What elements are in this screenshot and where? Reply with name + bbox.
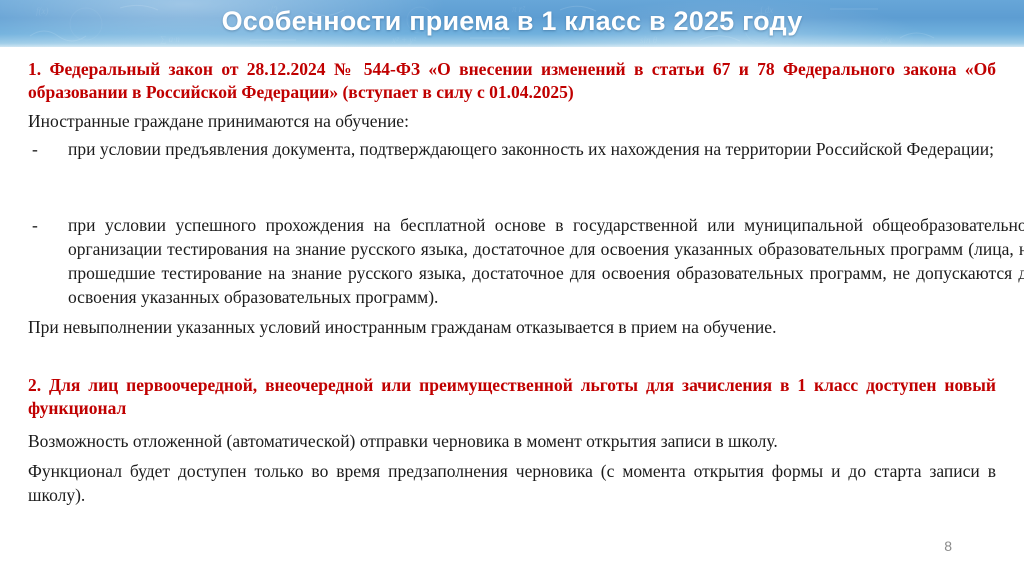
dash-bullet-marker: - <box>32 213 38 237</box>
page-title: Особенности приема в 1 класс в 2025 году <box>0 0 1024 43</box>
final-condition-paragraph: При невыполнении указанных условий иност… <box>28 315 996 339</box>
slide-header-banner: f(x) ∑ a·n √2 x² + y² π r² sin θ ∫ dx e^… <box>0 0 1024 47</box>
list-item-text: при условии успешного прохождения на бес… <box>68 215 1024 307</box>
page-number: 8 <box>944 538 952 554</box>
section-heading-1: 1. Федеральный закон от 28.12.2024 № 544… <box>28 58 996 103</box>
section-heading-2: 2. Для лиц первоочередной, внеочередной … <box>28 374 996 419</box>
feature-paragraph-1: Возможность отложенной (автоматической) … <box>28 429 996 453</box>
list-item: - при условии успешного прохождения на б… <box>28 213 1024 309</box>
dash-bullet-marker: - <box>32 137 38 161</box>
feature-paragraph-2: Функционал будет доступен только во врем… <box>28 459 996 507</box>
intro-paragraph: Иностранные граждане принимаются на обуч… <box>28 109 996 133</box>
slide-content: 1. Федеральный закон от 28.12.2024 № 544… <box>0 47 1024 576</box>
list-item: - при условии предъявления документа, по… <box>28 137 1024 161</box>
slide: f(x) ∑ a·n √2 x² + y² π r² sin θ ∫ dx e^… <box>0 0 1024 576</box>
list-item-text: при условии предъявления документа, подт… <box>68 139 994 159</box>
